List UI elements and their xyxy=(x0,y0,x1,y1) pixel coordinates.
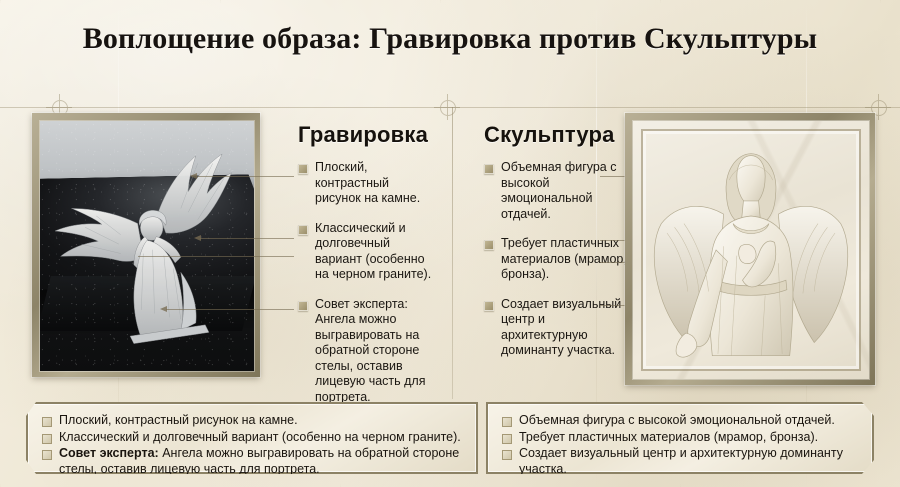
bullet-item: Классический и долговечный вариант (особ… xyxy=(298,221,438,283)
column-heading-engraving: Гравировка xyxy=(298,122,438,148)
checkbox-icon xyxy=(502,450,512,460)
page-title: Воплощение образа: Гравировка против Ску… xyxy=(0,22,900,56)
bullet-square-icon xyxy=(484,240,494,250)
summary-plaque-engraving: Плоский, контрастный рисунок на камне. К… xyxy=(26,402,478,474)
engraved-angel-figure-icon xyxy=(40,121,254,371)
summary-item: Объемная фигура с высокой эмоциональной … xyxy=(502,413,860,429)
engraved-granite-slab-frame[interactable] xyxy=(32,113,260,377)
summary-item: Классический и долговечный вариант (особ… xyxy=(42,430,464,446)
summary-item: Совет эксперта: Ангела можно выгравирова… xyxy=(42,446,464,477)
leader-line xyxy=(196,176,294,177)
slide-canvas: Воплощение образа: Гравировка против Ску… xyxy=(0,0,900,487)
bullet-square-icon xyxy=(298,301,308,311)
bullet-text: Классический и долговечный вариант (особ… xyxy=(315,221,438,283)
summary-text: Плоский, контрастный рисунок на камне. xyxy=(59,413,298,429)
marble-angel-sculpture-image xyxy=(632,120,870,380)
column-heading-sculpture: Скульптура xyxy=(484,122,630,148)
summary-text: Классический и долговечный вариант (особ… xyxy=(59,430,461,446)
bullet-item: Плоский, контрастный рисунок на камне. xyxy=(298,160,438,207)
bullet-square-icon xyxy=(484,164,494,174)
column-engraving: Гравировка Плоский, контрастный рисунок … xyxy=(298,122,438,419)
bullet-square-icon xyxy=(298,225,308,235)
leader-line xyxy=(138,256,294,257)
marble-angel-sculpture-frame[interactable] xyxy=(625,113,875,385)
bullet-text: Плоский, контрастный рисунок на камне. xyxy=(315,160,438,207)
bullet-text: Требует пластичных материалов (мрамор, б… xyxy=(501,236,630,283)
summary-item: Требует пластичных материалов (мрамор, б… xyxy=(502,430,860,446)
checkbox-icon xyxy=(42,450,52,460)
leader-line xyxy=(166,309,294,310)
summary-plaque-sculpture: Объемная фигура с высокой эмоциональной … xyxy=(486,402,874,474)
checkbox-icon xyxy=(42,417,52,427)
column-sculpture: Скульптура Объемная фигура с высокой эмо… xyxy=(484,122,630,373)
checkbox-icon xyxy=(502,434,512,444)
checkbox-icon xyxy=(502,417,512,427)
summary-item: Создает визуальный центр и архитектурную… xyxy=(502,446,860,477)
summary-text: Совет эксперта: Ангела можно выгравирова… xyxy=(59,446,464,477)
guide-rule-horizontal xyxy=(0,107,900,108)
summary-text: Требует пластичных материалов (мрамор, б… xyxy=(519,430,818,446)
bullet-item: Совет эксперта: Ангела можно выгравирова… xyxy=(298,297,438,406)
summary-item: Плоский, контрастный рисунок на камне. xyxy=(42,413,464,429)
bullet-text: Совет эксперта: Ангела можно выгравирова… xyxy=(315,297,438,406)
summary-text: Создает визуальный центр и архитектурную… xyxy=(519,446,860,477)
bullet-square-icon xyxy=(484,301,494,311)
summary-text: Объемная фигура с высокой эмоциональной … xyxy=(519,413,835,429)
leader-line xyxy=(200,238,294,239)
bullet-square-icon xyxy=(298,164,308,174)
checkbox-icon xyxy=(42,434,52,444)
engraved-granite-slab-image xyxy=(39,120,255,372)
marble-angel-figure-icon xyxy=(633,121,869,379)
registration-mark-icon xyxy=(434,94,460,120)
bullet-text: Объемная фигура с высокой эмоциональной … xyxy=(501,160,630,222)
column-divider xyxy=(452,107,453,399)
bullet-item: Объемная фигура с высокой эмоциональной … xyxy=(484,160,630,222)
bullet-item: Требует пластичных материалов (мрамор, б… xyxy=(484,236,630,283)
